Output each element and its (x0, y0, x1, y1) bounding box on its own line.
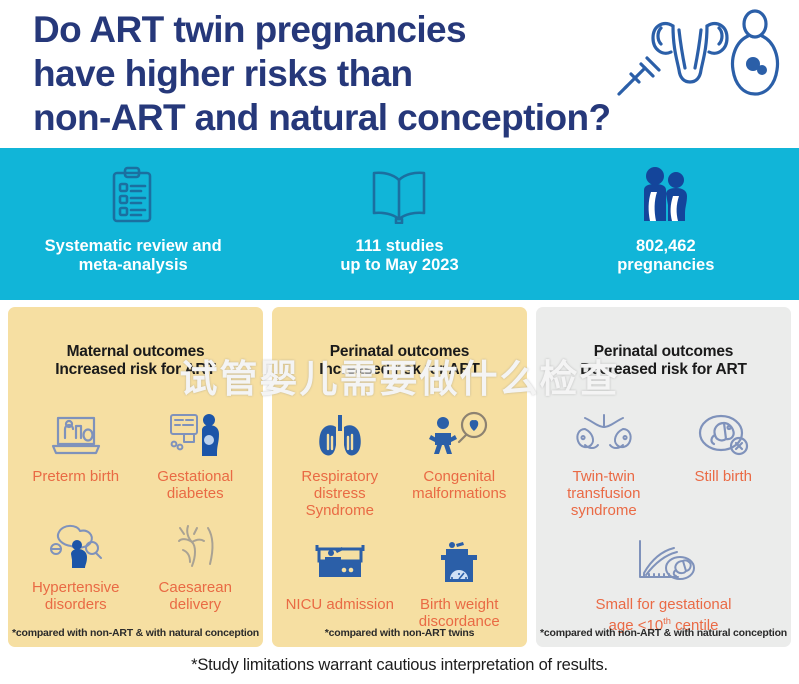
card-footnote: *compared with non-ART twins (272, 627, 527, 639)
outcome-respiratory-distress: Respiratory distress Syndrome (280, 405, 400, 519)
band-item-pregnancies-count: 802,462 pregnancies (533, 148, 799, 275)
outcome-gestational-diabetes: Gestational diabetes (136, 405, 256, 502)
card-title-line-2: Increased risk for ART (55, 361, 215, 379)
caesarean-delivery-icon (168, 516, 222, 570)
outcome-cards: Maternal outcomes Increased risk for ART (0, 307, 799, 647)
outcome-label-line-1: Hypertensive (32, 579, 120, 596)
band-item-line-2: up to May 2023 (340, 256, 458, 275)
card-title-line-1: Maternal outcomes (55, 343, 215, 361)
outcome-label-line-1: NICU admission (286, 596, 394, 613)
outcome-label: Still birth (694, 468, 752, 485)
card-footnote: *compared with non-ART & with natural co… (8, 627, 263, 639)
band-item-line-1: 802,462 (617, 237, 714, 256)
outcome-label: Caesarean delivery (159, 579, 232, 613)
outcome-label-line-1: Birth weight (419, 596, 500, 613)
baby-scale-icon (432, 533, 486, 587)
band-item-line-2: meta-analysis (45, 256, 222, 275)
outcome-label-line-2: malformations (412, 485, 506, 502)
pregnant-woman-icon (733, 11, 778, 94)
card-title-line-2: Increased risk for ART (319, 361, 479, 379)
outcome-label: Birth weight discordance (419, 596, 500, 630)
page-title-line-2: have higher risks than (33, 52, 593, 96)
page-title: Do ART twin pregnancies have higher risk… (33, 8, 593, 140)
band-item-text: 111 studies up to May 2023 (340, 237, 458, 275)
card-item-grid: Preterm birth (16, 405, 255, 627)
card-perinatal-increased-risk: Perinatal outcomes Increased risk for AR… (272, 307, 527, 647)
outcome-label-line-1: Gestational (157, 468, 233, 485)
outcome-still-birth: Still birth (664, 405, 784, 519)
outcome-label: Preterm birth (32, 468, 119, 485)
outcome-twin-twin-transfusion: Twin-twin transfusion syndrome (544, 405, 664, 519)
outcome-hypertensive-disorders: Hypertensive disorders (16, 516, 136, 613)
preterm-birth-monitor-icon (49, 405, 103, 459)
outcome-label-line-1: Twin-twin (567, 468, 640, 485)
card-footnote: *compared with non-ART & with natural co… (536, 627, 791, 639)
header: Do ART twin pregnancies have higher risk… (0, 0, 799, 146)
band-item-text: 802,462 pregnancies (617, 237, 714, 275)
card-item-grid: Respiratory distress Syndrome (280, 405, 519, 644)
card-perinatal-decreased-risk: Perinatal outcomes Decreased risk for AR… (536, 307, 791, 647)
band-item-line-2: pregnancies (617, 256, 714, 275)
hypertensive-disorders-icon (47, 516, 105, 570)
clipboard-checklist-icon (107, 165, 159, 227)
outcome-label: Respiratory distress Syndrome (282, 468, 398, 519)
outcome-small-for-gestational-age: Small for gestational age <10th centile (544, 533, 783, 634)
outcome-label-line-3: syndrome (567, 502, 640, 519)
footer-disclaimer: *Study limitations warrant cautious inte… (191, 656, 608, 675)
outcome-label: Twin-twin transfusion syndrome (567, 468, 640, 519)
outcome-label: NICU admission (286, 596, 394, 613)
header-icon-group (601, 8, 781, 100)
baby-magnifier-heart-icon (428, 405, 490, 459)
band-item-text: Systematic review and meta-analysis (45, 237, 222, 275)
outcome-label-line-2: diabetes (157, 485, 233, 502)
outcome-label-line-2: Syndrome (282, 502, 398, 519)
outcome-label-line-2: transfusion (567, 485, 640, 502)
outcome-preterm-birth: Preterm birth (16, 405, 136, 502)
twin-fetuses-icon (571, 405, 637, 459)
band-item-line-1: Systematic review and (45, 237, 222, 256)
outcome-caesarean-delivery: Caesarean delivery (136, 516, 256, 613)
outcome-label-line-1: Respiratory distress (282, 468, 398, 502)
card-item-grid: Twin-twin transfusion syndrome (544, 405, 783, 648)
card-title: Perinatal outcomes Increased risk for AR… (319, 343, 479, 379)
band-item-studies-count: 111 studies up to May 2023 (266, 148, 532, 275)
outcome-nicu-admission: NICU admission (280, 533, 400, 630)
outcome-label-line-1: Caesarean (159, 579, 232, 596)
outcome-label-line-1: Still birth (694, 468, 752, 485)
card-title-line-1: Perinatal outcomes (580, 343, 746, 361)
growth-chart-fetus-icon (622, 533, 706, 587)
card-title-line-1: Perinatal outcomes (319, 343, 479, 361)
outcome-label: Congenital malformations (412, 468, 506, 502)
page-title-line-1: Do ART twin pregnancies (33, 8, 593, 52)
outcome-label-line-1: Congenital (412, 468, 506, 485)
page-title-line-3: non-ART and natural conception? (33, 96, 593, 140)
pregnant-couple-icon (635, 165, 697, 227)
gestational-diabetes-icon (166, 405, 224, 459)
outcome-label: Hypertensive disorders (32, 579, 120, 613)
footer: *Study limitations warrant cautious inte… (0, 647, 799, 684)
card-maternal-outcomes: Maternal outcomes Increased risk for ART (8, 307, 263, 647)
outcome-birth-weight-discordance: Birth weight discordance (400, 533, 520, 630)
card-title: Perinatal outcomes Decreased risk for AR… (580, 343, 746, 379)
incubator-icon (311, 533, 369, 587)
outcome-label-line-1: Preterm birth (32, 468, 119, 485)
outcome-label-line-2: disorders (32, 596, 120, 613)
open-book-icon (367, 165, 431, 227)
outcome-congenital-malformations: Congenital malformations (400, 405, 520, 519)
outcome-label: Gestational diabetes (157, 468, 233, 502)
card-title: Maternal outcomes Increased risk for ART (55, 343, 215, 379)
infographic-page: Do ART twin pregnancies have higher risk… (0, 0, 799, 684)
outcome-label-line-1: Small for gestational (596, 596, 732, 613)
lungs-icon (313, 405, 367, 459)
uterus-syringe-icon (601, 8, 781, 100)
band-item-line-1: 111 studies (340, 237, 458, 256)
card-title-line-2: Decreased risk for ART (580, 361, 746, 379)
band-item-systematic-review: Systematic review and meta-analysis (0, 148, 266, 275)
outcome-label-line-2: delivery (159, 596, 232, 613)
superscript-th: th (663, 616, 671, 626)
summary-band: Systematic review and meta-analysis 111 … (0, 148, 799, 300)
stillbirth-fetus-x-icon (694, 405, 752, 459)
